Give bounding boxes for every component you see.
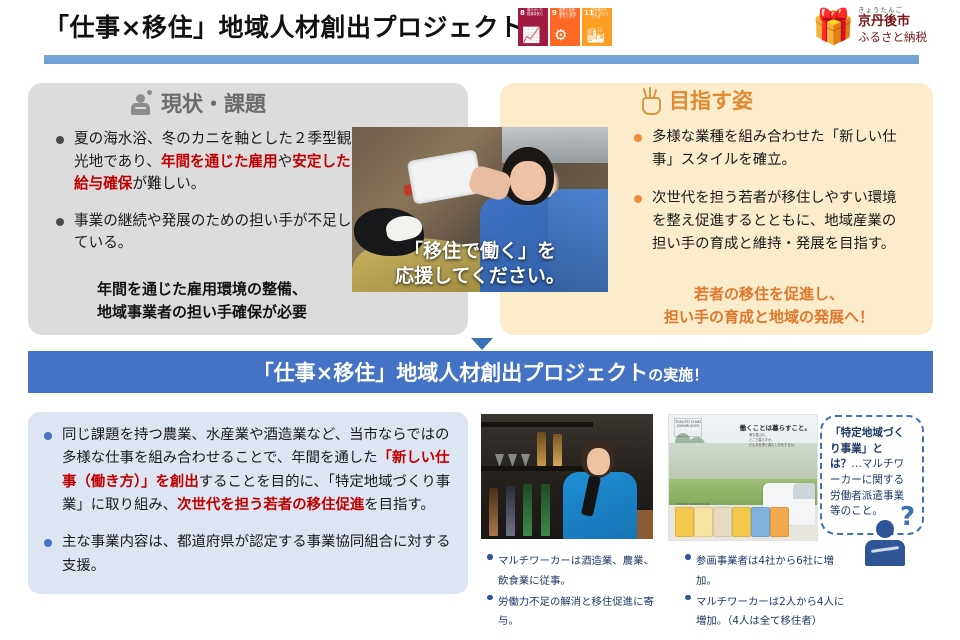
goal-conclusion: 若者の移住を促進し、 担い手の育成と地域の発展へ！ (628, 283, 910, 328)
logo-program-name: ふるさと納税 (858, 30, 927, 45)
sdg-8-label: 働きがいも 経済成長も (527, 9, 546, 16)
photo-caption-line-1: 「移住で働く」を (352, 239, 608, 263)
current-issues-bullets: 夏の海水浴、冬のカニを軸とした２季型観光地であり、年間を通じた雇用や安定した給与… (52, 128, 352, 269)
bullet-dot-icon (634, 195, 642, 203)
bullet-dot-icon (44, 539, 52, 547)
person-thinking-icon (130, 90, 154, 116)
page-title: 「仕事×移住」地域人材創出プロジェクト (44, 8, 524, 44)
bullet-dot-icon (56, 136, 64, 144)
sdg-11-icon: 11 住み続けられる まちづくりを 🏙 (582, 8, 612, 46)
photo-caption-line-2: 応援してください。 (352, 264, 608, 288)
slide-root: 「仕事×移住」地域人材創出プロジェクト 8 働きがいも 経済成長も 📈 9 産業… (0, 0, 960, 640)
list-item: 労働力不足の解消と移住促進に寄与。 (486, 590, 656, 630)
bullet-text: 同じ課題を持つ農業、水産業や酒造業など、当市ならではの多様な仕事を組み合わせるこ… (62, 427, 450, 513)
list-item: 次世代を担う若者が移住しやすい環境を整え促進するとともに、地域産業の担い手の育成… (630, 187, 902, 257)
current-issues-conclusion: 年間を通じた雇用環境の整備、 地域事業者の担い手確保が必要 (52, 278, 352, 323)
bullet-dot-icon (487, 554, 493, 560)
logo-text: きょうたんご 京丹後市 ふるさと納税 (858, 4, 927, 45)
bullet-dot-icon (56, 218, 64, 226)
bullet-text: 主な事業内容は、都道府県が認定する事業協同組合に対する支援。 (62, 534, 451, 573)
logo-kana: きょうたんご (858, 4, 927, 14)
banner-main-text: 「仕事×移住」地域人材創出プロジェクト (253, 361, 649, 385)
current-issues-heading-label: 現状・課題 (161, 88, 266, 118)
bullet-dot-icon (685, 554, 691, 560)
poster-subtext: 海も里山も、 どこで暮らすか。 どんな仕事と暮らし方をするか。 (749, 433, 811, 447)
bullet-text: 多様な業種を組み合わせた「新しい仕事」スタイルを確立。 (652, 129, 897, 168)
sdg-9-glyph: ⚙ (554, 28, 567, 43)
calf-feeding-photo: 「移住で働く」を 応援してください。 (352, 127, 608, 292)
sdg-9-number: 9 (552, 9, 557, 17)
bullet-dot-icon (44, 432, 52, 440)
kyotango-furusato-logo: 🎁 きょうたんご 京丹後市 ふるさと納税 (812, 4, 942, 52)
list-item: 夏の海水浴、冬のカニを軸とした２季型観光地であり、年間を通じた雇用や安定した給与… (52, 128, 352, 196)
caption-text: 労働力不足の解消と移住促進に寄与。 (498, 596, 654, 628)
goal-heading: 目指す姿 (640, 85, 753, 115)
caption-text: マルチワーカーは2人から4人に増加。（4人は全て移住者） (696, 596, 844, 628)
list-item: 参画事業者は4社から6社に増加。 (684, 549, 852, 589)
sake-shop-worker-photo (481, 414, 653, 539)
photo-overlay-caption: 「移住で働く」を 応援してください。 (352, 239, 608, 288)
poster-headline: 働くことは暮らすこと。 (740, 422, 811, 432)
bullet-text: 次世代を担う若者が移住しやすい環境を整え促進するとともに、地域産業の担い手の育成… (652, 190, 897, 253)
list-item: 主な事業内容は、都道府県が認定する事業協同組合に対する支援。 (40, 531, 460, 578)
poster-photo-captions: 参画事業者は4社から6社に増加。 マルチワーカーは2人から4人に増加。（4人は全… (684, 549, 852, 630)
person-question-icon (862, 520, 908, 568)
header-divider (44, 55, 919, 64)
banner-suffix-text: の実施！ (648, 366, 708, 384)
bullet-dot-icon (685, 595, 691, 601)
bullet-text: 事業の継続や発展のための担い手が不足している。 (74, 212, 351, 252)
sdg-8-glyph: 📈 (522, 28, 541, 43)
list-item: 同じ課題を持つ農業、水産業や酒造業など、当市ならではの多様な仕事を組み合わせるこ… (40, 424, 460, 517)
caption-text: 参画事業者は4社から6社に増加。 (696, 555, 834, 587)
sake-photo-captions: マルチワーカーは酒造業、農業、飲食業に従事。 労働力不足の解消と移住促進に寄与。 (486, 549, 656, 630)
list-item: マルチワーカーは酒造業、農業、飲食業に従事。 (486, 549, 656, 589)
gift-box-icon: 🎁 (812, 6, 854, 48)
project-detail-bullets: 同じ課題を持つ農業、水産業や酒造業など、当市ならではの多様な仕事を組み合わせるこ… (40, 424, 460, 592)
slide-header: 「仕事×移住」地域人材創出プロジェクト 8 働きがいも 経済成長も 📈 9 産業… (0, 0, 960, 58)
pointing-hand-icon (640, 87, 662, 113)
bullet-dot-icon (487, 595, 493, 601)
sdg-11-glyph: 🏙 (586, 28, 605, 43)
sdg-8-number: 8 (520, 9, 525, 17)
sdg-icon-row: 8 働きがいも 経済成長も 📈 9 産業と技術革新の 基盤をつくろう ⚙ 11 … (518, 8, 612, 46)
caption-text: マルチワーカーは酒造業、農業、飲食業に従事。 (498, 555, 654, 587)
poster-url: TOKUTEI CHIIKI ZUKURI (675, 502, 710, 506)
logo-city-name: 京丹後市 (858, 14, 927, 30)
poster-brand-logo: TOKUTEI CHIIKI ZUKURI JIGYO (674, 418, 702, 437)
project-banner: 「仕事×移住」地域人材創出プロジェクトの実施！ (28, 351, 933, 393)
list-item: 多様な業種を組み合わせた「新しい仕事」スタイルを確立。 (630, 126, 902, 173)
list-item: 事業の継続や発展のための担い手が不足している。 (52, 210, 352, 255)
list-item: マルチワーカーは2人から4人に増加。（4人は全て移住者） (684, 590, 852, 630)
goal-heading-label: 目指す姿 (669, 85, 753, 115)
sdg-8-icon: 8 働きがいも 経済成長も 📈 (518, 8, 548, 46)
current-issues-heading: 現状・課題 (130, 88, 266, 118)
bullet-text: 夏の海水浴、冬のカニを軸とした２季型観光地であり、年間を通じた雇用や安定した給与… (74, 130, 351, 192)
sdg-9-icon: 9 産業と技術革新の 基盤をつくろう ⚙ (550, 8, 580, 46)
bullet-dot-icon (634, 134, 642, 142)
sdg-9-label: 産業と技術革新の 基盤をつくろう (559, 9, 578, 20)
sdg-11-label: 住み続けられる まちづくりを (591, 9, 610, 20)
goal-bullets: 多様な業種を組み合わせた「新しい仕事」スタイルを確立。 次世代を担う若者が移住し… (630, 126, 902, 271)
arrow-down-icon (471, 338, 493, 350)
recruitment-poster-photo: TOKUTEI CHIIKI ZUKURI JIGYO 働くことは暮らすこと。 … (668, 414, 818, 541)
